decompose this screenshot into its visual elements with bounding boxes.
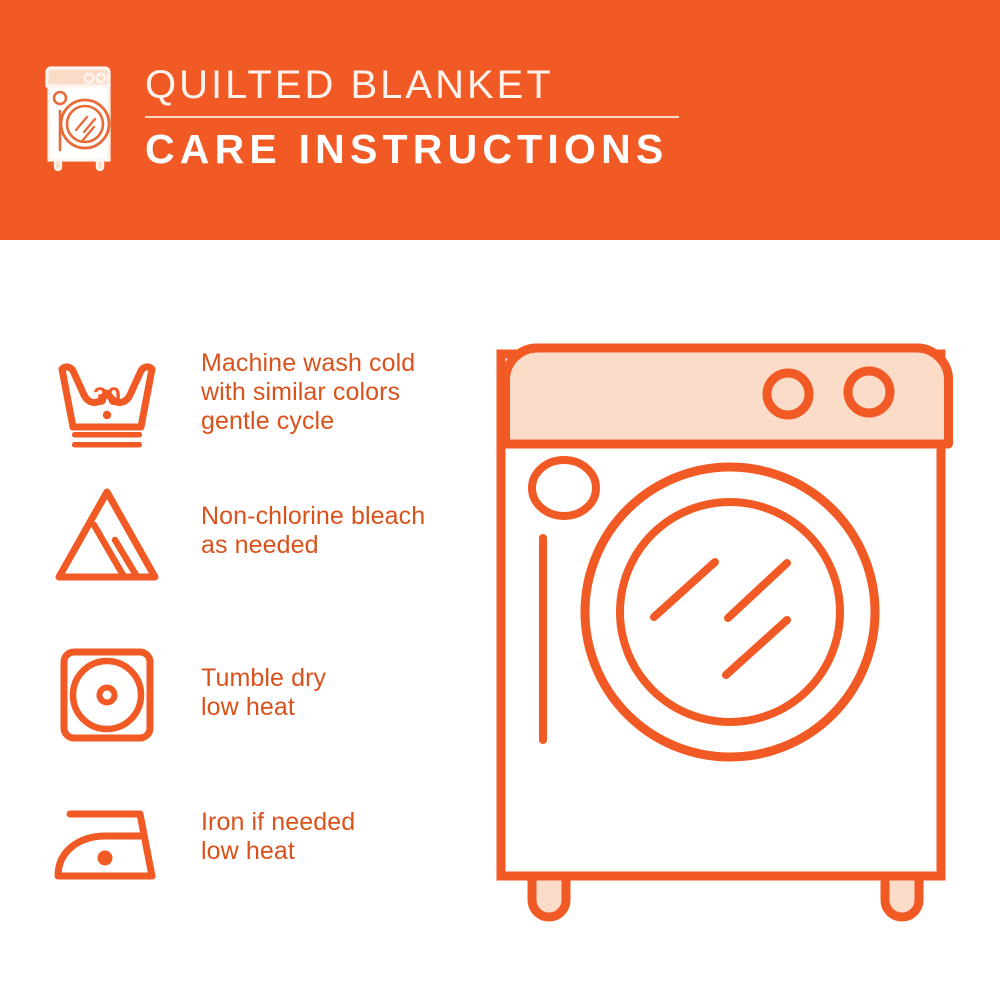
title-secondary: CARE INSTRUCTIONS (143, 125, 679, 173)
wash-temperature-value: 30 (93, 383, 121, 411)
title-primary: QUILTED BLANKET (143, 62, 679, 108)
header-content: QUILTED BLANKET CARE INSTRUCTIONS (45, 62, 679, 174)
care-row-machine-wash: 30 Machine wash cold with similar colors… (48, 343, 415, 455)
iron-low-heat-icon (48, 790, 166, 902)
care-label-tumble-dry: Tumble dry low heat (201, 640, 326, 722)
front-load-washing-machine-illustration (487, 330, 967, 930)
care-row-bleach: Non-chlorine bleach as needed (48, 480, 425, 592)
leg-right (885, 876, 919, 917)
header-banner: QUILTED BLANKET CARE INSTRUCTIONS (0, 0, 1000, 240)
care-instruction-list: 30 Machine wash cold with similar colors… (0, 240, 470, 1000)
care-label-iron: Iron if needed low heat (201, 790, 355, 866)
title-divider (145, 116, 679, 118)
care-row-tumble-dry: Tumble dry low heat (48, 640, 326, 752)
leg-left (532, 876, 566, 917)
care-row-iron: Iron if needed low heat (48, 790, 355, 902)
knob-right (848, 371, 890, 413)
wash-tub-30-gentle-icon: 30 (48, 343, 166, 455)
washing-machine-icon (45, 62, 117, 174)
care-label-machine-wash: Machine wash cold with similar colors ge… (201, 343, 415, 436)
page-title: QUILTED BLANKET CARE INSTRUCTIONS (143, 62, 679, 173)
knob-left (767, 373, 809, 415)
tumble-dry-low-heat-icon (48, 640, 166, 752)
bleach-triangle-non-chlorine-icon (48, 480, 166, 592)
care-label-bleach: Non-chlorine bleach as needed (201, 480, 425, 560)
